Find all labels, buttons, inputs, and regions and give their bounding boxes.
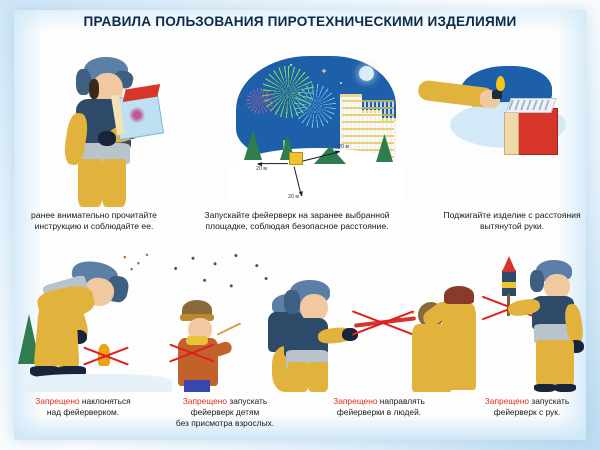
bystander-hat-icon [444, 286, 474, 304]
caption-line: фейерверки в людей. [304, 407, 454, 418]
caption-rest: направлять [377, 396, 424, 406]
firework-box-art-icon [128, 107, 146, 123]
caption-line: Запрещено запускать [456, 396, 598, 407]
caption-no-bending: Запрещено наклоняться над фейерверком. [8, 396, 158, 418]
glove-left-icon [98, 131, 116, 146]
hat-earflap-icon [530, 270, 544, 292]
caption-rest: запускать [227, 396, 267, 406]
caption-line: Поджигайте изделие с расстояния [424, 210, 600, 221]
caption-rest: запускать [529, 396, 569, 406]
leg-right-icon [308, 362, 328, 392]
prohibited-word: Запрещено [35, 396, 79, 406]
caption-line: без присмотра взрослых. [152, 418, 298, 429]
firework-box-tubes-icon [508, 100, 552, 110]
page-title: ПРАВИЛА ПОЛЬЗОВАНИЯ ПИРОТЕХНИЧЕСКИМИ ИЗД… [0, 14, 600, 29]
boot-left-icon [534, 384, 556, 392]
scene-read-instruction [38, 55, 188, 205]
distance-label-right: 20 м [338, 144, 349, 150]
caption-line: инструкцию и соблюдайте ее. [0, 221, 194, 232]
lighter-icon [492, 90, 502, 99]
child-leg-icon [184, 380, 210, 392]
firework-burst-medium-icon [294, 84, 336, 128]
leg-left-icon [288, 362, 308, 392]
caption-no-aiming-at-people: Запрещено направлять фейерверки в людей. [304, 396, 454, 418]
hat-earflap-icon [284, 290, 300, 314]
firework-burst-small-icon [246, 88, 274, 114]
boot-right-icon [554, 384, 576, 392]
prohibited-word: Запрещено [485, 396, 529, 406]
flame-icon [496, 76, 505, 91]
leg-left-icon [536, 340, 556, 388]
prohibition-cross-icon [82, 342, 130, 370]
caption-read-instruction: ранее внимательно прочитайте инструкцию … [0, 210, 194, 232]
caption-line: Запрещено наклоняться [8, 396, 158, 407]
bystander-body-icon [442, 304, 476, 390]
caption-line: фейерверк детям [152, 407, 298, 418]
firework-launch-device-icon [289, 152, 303, 165]
leg-left-icon [78, 159, 102, 207]
caption-line: вытянутой руки. [424, 221, 600, 232]
firework-box-red-front [516, 108, 558, 155]
leg-right-icon [102, 159, 126, 207]
rocket-band-icon [502, 282, 516, 288]
caption-line: фейерверк с рук. [456, 407, 598, 418]
scene-no-aiming-at-people [272, 250, 452, 392]
caption-no-children: Запрещено запускать фейерверк детям без … [152, 396, 298, 428]
leg-right-icon [554, 340, 574, 388]
scene-no-launch-from-hand [452, 248, 592, 392]
caption-line: Запрещено запускать [152, 396, 298, 407]
caption-arm-length: Поджигайте изделие с расстояния вытянуто… [424, 210, 600, 232]
rocket-nose-icon [502, 256, 516, 272]
poster-root: ПРАВИЛА ПОЛЬЗОВАНИЯ ПИРОТЕХНИЧЕСКИМИ ИЗД… [0, 0, 600, 450]
prohibition-cross-icon [168, 340, 216, 366]
distance-label-left: 20 м [256, 166, 267, 172]
spark-cloud-icon [164, 250, 280, 296]
sparks-icon [118, 250, 152, 274]
scene-arm-length [432, 62, 582, 202]
leg-right-icon [55, 313, 80, 370]
star-small-icon [340, 82, 342, 84]
sparkler-stick-icon [217, 322, 241, 336]
scene-safe-distance: 20 м 20 м 20 м [228, 52, 403, 202]
prohibition-cross-icon [350, 308, 416, 338]
caption-line: Запускайте фейерверк на заранее выбранно… [186, 210, 408, 221]
firework-box-red-side [504, 112, 519, 155]
caption-rest: наклоняться [80, 396, 131, 406]
distance-label-down: 20 м [288, 194, 299, 200]
distance-arrow-left [258, 163, 288, 164]
prohibited-word: Запрещено [333, 396, 377, 406]
caption-line: площадке, соблюдая безопасное расстояние… [186, 221, 408, 232]
caption-no-launch-from-hand: Запрещено запускать фейерверк с рук. [456, 396, 598, 418]
caption-line: Запрещено направлять [304, 396, 454, 407]
caption-line: над фейерверком. [8, 407, 158, 418]
caption-safe-distance: Запускайте фейерверк на заранее выбранно… [186, 210, 408, 232]
caption-line: ранее внимательно прочитайте [0, 210, 194, 221]
prohibited-word: Запрещено [183, 396, 227, 406]
hair-icon [89, 79, 99, 99]
moon-icon [359, 66, 374, 81]
